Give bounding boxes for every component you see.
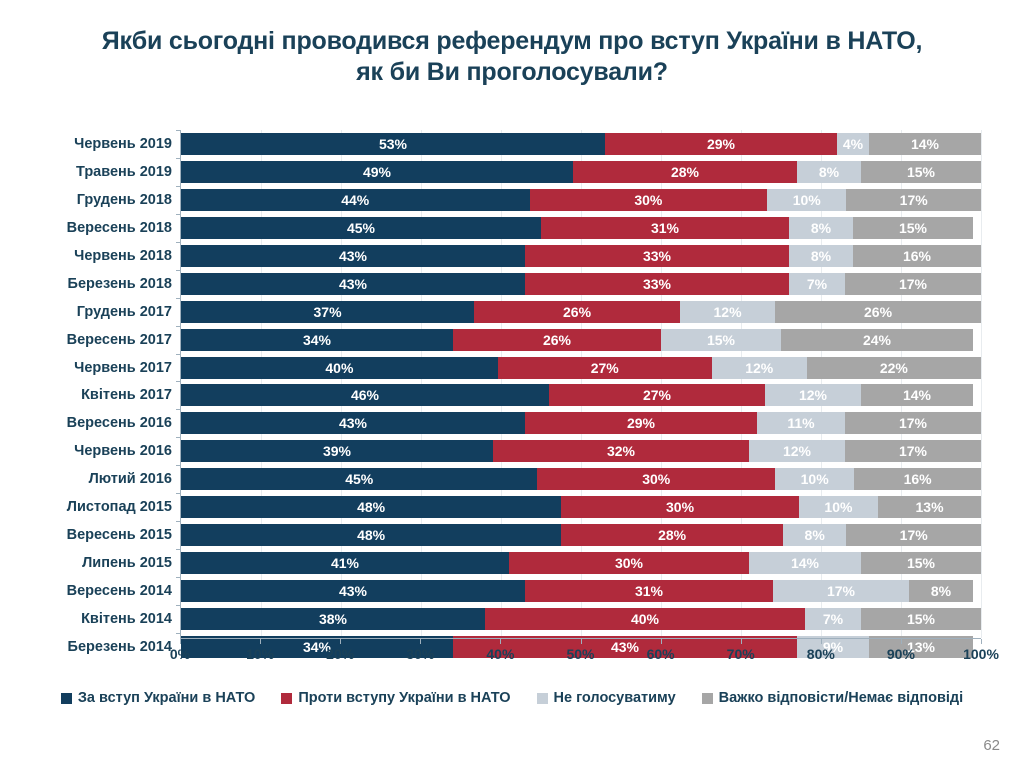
x-axis-label: 40% <box>486 646 514 662</box>
x-axis-tick <box>581 639 582 644</box>
y-axis-tick <box>176 521 181 522</box>
x-axis: 0%10%20%30%40%50%60%70%80%90%100% <box>180 638 981 668</box>
chart-row: Березень 201843%33%7%17% <box>181 273 981 295</box>
bar-segment: 49% <box>181 161 573 183</box>
bar-segment: 17% <box>845 273 981 295</box>
y-axis-tick <box>176 354 181 355</box>
chart-row: Травень 201949%28%8%15% <box>181 161 981 183</box>
bar-segment: 24% <box>781 329 973 351</box>
x-axis-tick <box>420 639 421 644</box>
bar-segment: 10% <box>775 468 854 490</box>
category-label: Липень 2015 <box>5 552 181 574</box>
x-axis-label: 100% <box>963 646 999 662</box>
bar-segment: 39% <box>181 440 493 462</box>
bar-segment: 13% <box>878 496 981 518</box>
y-axis-tick <box>176 381 181 382</box>
category-label: Червень 2016 <box>5 440 181 462</box>
x-axis-label: 30% <box>406 646 434 662</box>
legend-swatch-icon <box>702 693 713 704</box>
bar-segment: 38% <box>181 608 485 630</box>
x-axis-label: 60% <box>647 646 675 662</box>
legend-swatch-icon <box>61 693 72 704</box>
bar-segment: 28% <box>573 161 797 183</box>
x-axis-tick <box>661 639 662 644</box>
x-axis-label: 50% <box>566 646 594 662</box>
bar-segment: 32% <box>493 440 749 462</box>
page-title-line-1: Якби сьогодні проводився референдум про … <box>36 26 988 57</box>
legend-label: За вступ України в НАТО <box>78 690 255 706</box>
bar-segment: 7% <box>805 608 861 630</box>
bar-segment: 8% <box>789 245 853 267</box>
chart-row: Червень 201639%32%12%17% <box>181 440 981 462</box>
chart-row: Квітень 201746%27%12%14% <box>181 384 981 406</box>
chart-row: Лютий 201645%30%10%16% <box>181 468 981 490</box>
category-label: Травень 2019 <box>5 161 181 183</box>
y-axis-tick <box>176 549 181 550</box>
y-axis-tick <box>176 437 181 438</box>
bar-segment: 44% <box>181 189 530 211</box>
category-label: Листопад 2015 <box>5 496 181 518</box>
bar-segment: 17% <box>845 412 981 434</box>
y-axis-tick <box>176 298 181 299</box>
bar-segment: 26% <box>775 301 981 323</box>
legend-swatch-icon <box>537 693 548 704</box>
category-label: Вересень 2015 <box>5 524 181 546</box>
bar-segment: 26% <box>474 301 680 323</box>
bar-segment: 14% <box>749 552 861 574</box>
legend-item[interactable]: Важко відповісти/Немає відповіді <box>702 690 964 706</box>
category-label: Грудень 2017 <box>5 301 181 323</box>
bar-segment: 17% <box>773 580 909 602</box>
category-label: Квітень 2017 <box>5 384 181 406</box>
category-label: Червень 2017 <box>5 357 181 379</box>
bar-segment: 40% <box>485 608 805 630</box>
x-axis-label: 90% <box>887 646 915 662</box>
category-label: Червень 2018 <box>5 245 181 267</box>
bar-segment: 4% <box>837 133 869 155</box>
gridline <box>981 130 982 638</box>
bar-segment: 37% <box>181 301 474 323</box>
bar-segment: 27% <box>549 384 765 406</box>
bar-segment: 27% <box>498 357 712 379</box>
bar-segment: 12% <box>712 357 807 379</box>
legend-item[interactable]: Проти вступу України в НАТО <box>281 690 510 706</box>
category-label: Лютий 2016 <box>5 468 181 490</box>
bar-segment: 29% <box>605 133 837 155</box>
legend-label: Не голосуватиму <box>554 690 676 706</box>
bar-segment: 33% <box>525 273 789 295</box>
category-label: Вересень 2016 <box>5 412 181 434</box>
y-axis-tick <box>176 493 181 494</box>
category-label: Червень 2019 <box>5 133 181 155</box>
bar-segment: 8% <box>909 580 973 602</box>
page-number: 62 <box>983 737 1000 754</box>
bar-segment: 48% <box>181 496 561 518</box>
x-axis-tick <box>500 639 501 644</box>
x-axis-label: 80% <box>807 646 835 662</box>
bar-segment: 15% <box>861 552 981 574</box>
y-axis-tick <box>176 633 181 634</box>
stacked-bar-chart: Червень 201953%29%4%14%Травень 201949%28… <box>0 130 1024 675</box>
bar-segment: 43% <box>181 245 525 267</box>
chart-row: Вересень 201845%31%8%15% <box>181 217 981 239</box>
category-label: Квітень 2014 <box>5 608 181 630</box>
category-label: Вересень 2017 <box>5 329 181 351</box>
category-label: Березень 2014 <box>5 636 181 658</box>
bar-segment: 48% <box>181 524 561 546</box>
bar-segment: 17% <box>846 189 981 211</box>
bar-segment: 45% <box>181 217 541 239</box>
chart-row: Червень 201843%33%8%16% <box>181 245 981 267</box>
y-axis-tick <box>176 605 181 606</box>
bar-segment: 11% <box>757 412 845 434</box>
y-axis-tick <box>176 577 181 578</box>
chart-row: Вересень 201548%28%8%17% <box>181 524 981 546</box>
bar-segment: 15% <box>861 608 981 630</box>
x-axis-tick <box>741 639 742 644</box>
chart-row: Липень 201541%30%14%15% <box>181 552 981 574</box>
bar-segment: 12% <box>749 440 845 462</box>
bar-segment: 12% <box>765 384 861 406</box>
chart-row: Вересень 201643%29%11%17% <box>181 412 981 434</box>
bar-segment: 14% <box>869 133 981 155</box>
chart-row: Грудень 201844%30%10%17% <box>181 189 981 211</box>
bar-segment: 29% <box>525 412 757 434</box>
bar-segment: 30% <box>530 189 768 211</box>
page-title: Якби сьогодні проводився референдум про … <box>0 26 1024 88</box>
bar-segment: 43% <box>181 580 525 602</box>
chart-row: Вересень 201443%31%17%8% <box>181 580 981 602</box>
bar-segment: 10% <box>767 189 846 211</box>
bar-segment: 40% <box>181 357 498 379</box>
bar-segment: 28% <box>561 524 783 546</box>
x-axis-label: 0% <box>170 646 190 662</box>
chart-row: Грудень 201737%26%12%26% <box>181 301 981 323</box>
x-axis-label: 20% <box>326 646 354 662</box>
bar-segment: 7% <box>789 273 845 295</box>
bar-segment: 8% <box>797 161 861 183</box>
bar-segment: 45% <box>181 468 537 490</box>
bar-segment: 34% <box>181 329 453 351</box>
bar-segment: 12% <box>680 301 775 323</box>
bar-segment: 17% <box>846 524 981 546</box>
bar-segment: 43% <box>181 412 525 434</box>
x-axis-tick <box>180 639 181 644</box>
bar-segment: 22% <box>807 357 981 379</box>
bar-segment: 14% <box>861 384 973 406</box>
chart-row: Червень 201740%27%12%22% <box>181 357 981 379</box>
bar-segment: 16% <box>854 468 981 490</box>
x-axis-tick <box>260 639 261 644</box>
y-axis-tick <box>176 326 181 327</box>
bar-segment: 10% <box>799 496 878 518</box>
chart-row: Червень 201953%29%4%14% <box>181 133 981 155</box>
bar-segment: 46% <box>181 384 549 406</box>
y-axis-tick <box>176 242 181 243</box>
x-axis-tick <box>821 639 822 644</box>
bar-segment: 26% <box>453 329 661 351</box>
category-label: Вересень 2018 <box>5 217 181 239</box>
bar-segment: 30% <box>537 468 775 490</box>
category-label: Грудень 2018 <box>5 189 181 211</box>
bar-segment: 17% <box>845 440 981 462</box>
y-axis-tick <box>176 186 181 187</box>
y-axis-tick <box>176 409 181 410</box>
y-axis-tick <box>176 465 181 466</box>
bar-segment: 15% <box>861 161 981 183</box>
bar-segment: 31% <box>525 580 773 602</box>
x-axis-tick <box>981 639 982 644</box>
bar-segment: 33% <box>525 245 789 267</box>
x-axis-label: 10% <box>246 646 274 662</box>
plot-area: Червень 201953%29%4%14%Травень 201949%28… <box>180 130 981 638</box>
chart-rows: Червень 201953%29%4%14%Травень 201949%28… <box>181 130 981 638</box>
chart-row: Листопад 201548%30%10%13% <box>181 496 981 518</box>
chart-row: Квітень 201438%40%7%15% <box>181 608 981 630</box>
chart-row: Вересень 201734%26%15%24% <box>181 329 981 351</box>
bar-segment: 30% <box>509 552 749 574</box>
category-label: Вересень 2014 <box>5 580 181 602</box>
x-axis-tick <box>901 639 902 644</box>
bar-segment: 15% <box>853 217 973 239</box>
x-axis-tick <box>340 639 341 644</box>
y-axis-tick <box>176 130 181 131</box>
y-axis-tick <box>176 158 181 159</box>
bar-segment: 53% <box>181 133 605 155</box>
x-axis-label: 70% <box>727 646 755 662</box>
chart-legend: За вступ України в НАТОПроти вступу Укра… <box>0 690 1024 706</box>
legend-item[interactable]: Не голосуватиму <box>537 690 676 706</box>
bar-segment: 8% <box>789 217 853 239</box>
bar-segment: 15% <box>661 329 781 351</box>
category-label: Березень 2018 <box>5 273 181 295</box>
bar-segment: 43% <box>181 273 525 295</box>
legend-label: Проти вступу України в НАТО <box>298 690 510 706</box>
bar-segment: 16% <box>853 245 981 267</box>
legend-label: Важко відповісти/Немає відповіді <box>719 690 964 706</box>
bar-segment: 8% <box>783 524 846 546</box>
page-title-line-2: як би Ви проголосували? <box>36 57 988 88</box>
y-axis-tick <box>176 214 181 215</box>
bar-segment: 31% <box>541 217 789 239</box>
bar-segment: 30% <box>561 496 799 518</box>
legend-item[interactable]: За вступ України в НАТО <box>61 690 255 706</box>
slide-root: Якби сьогодні проводився референдум про … <box>0 0 1024 768</box>
legend-swatch-icon <box>281 693 292 704</box>
y-axis-tick <box>176 270 181 271</box>
bar-segment: 41% <box>181 552 509 574</box>
